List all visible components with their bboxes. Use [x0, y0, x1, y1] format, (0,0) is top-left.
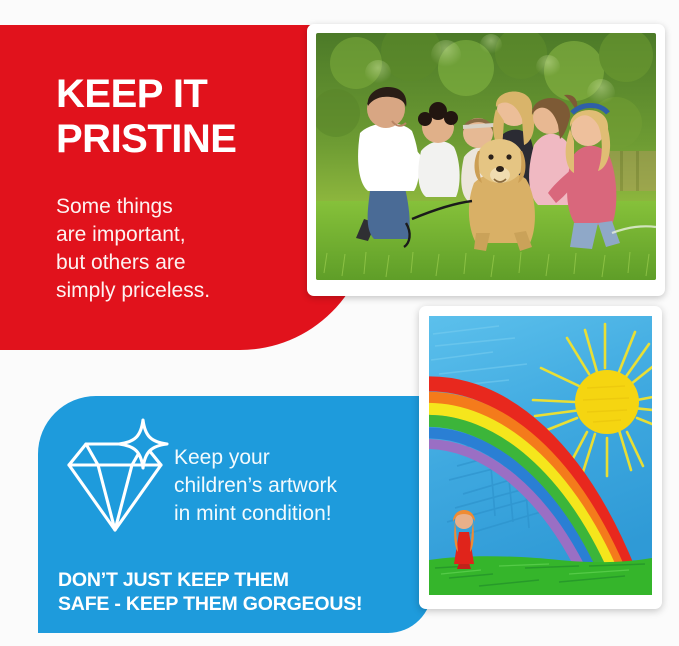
rainbow-drawing-image — [429, 316, 652, 595]
promotional-banner: KEEP IT PRISTINE Some things are importa… — [0, 0, 679, 646]
red-panel-subcopy: Some things are important, but others ar… — [56, 193, 346, 305]
blue-panel-message: Keep your children’s artwork in mint con… — [174, 444, 424, 528]
childrens-rainbow-artwork — [419, 306, 662, 609]
family-with-dog-photo — [307, 24, 665, 296]
diamond-sparkle-icon — [50, 408, 180, 543]
blue-panel: Keep your children’s artwork in mint con… — [38, 396, 432, 633]
family-photo-image — [316, 33, 656, 280]
blue-panel-tagline: DON’T JUST KEEP THEM SAFE - KEEP THEM GO… — [58, 568, 428, 616]
